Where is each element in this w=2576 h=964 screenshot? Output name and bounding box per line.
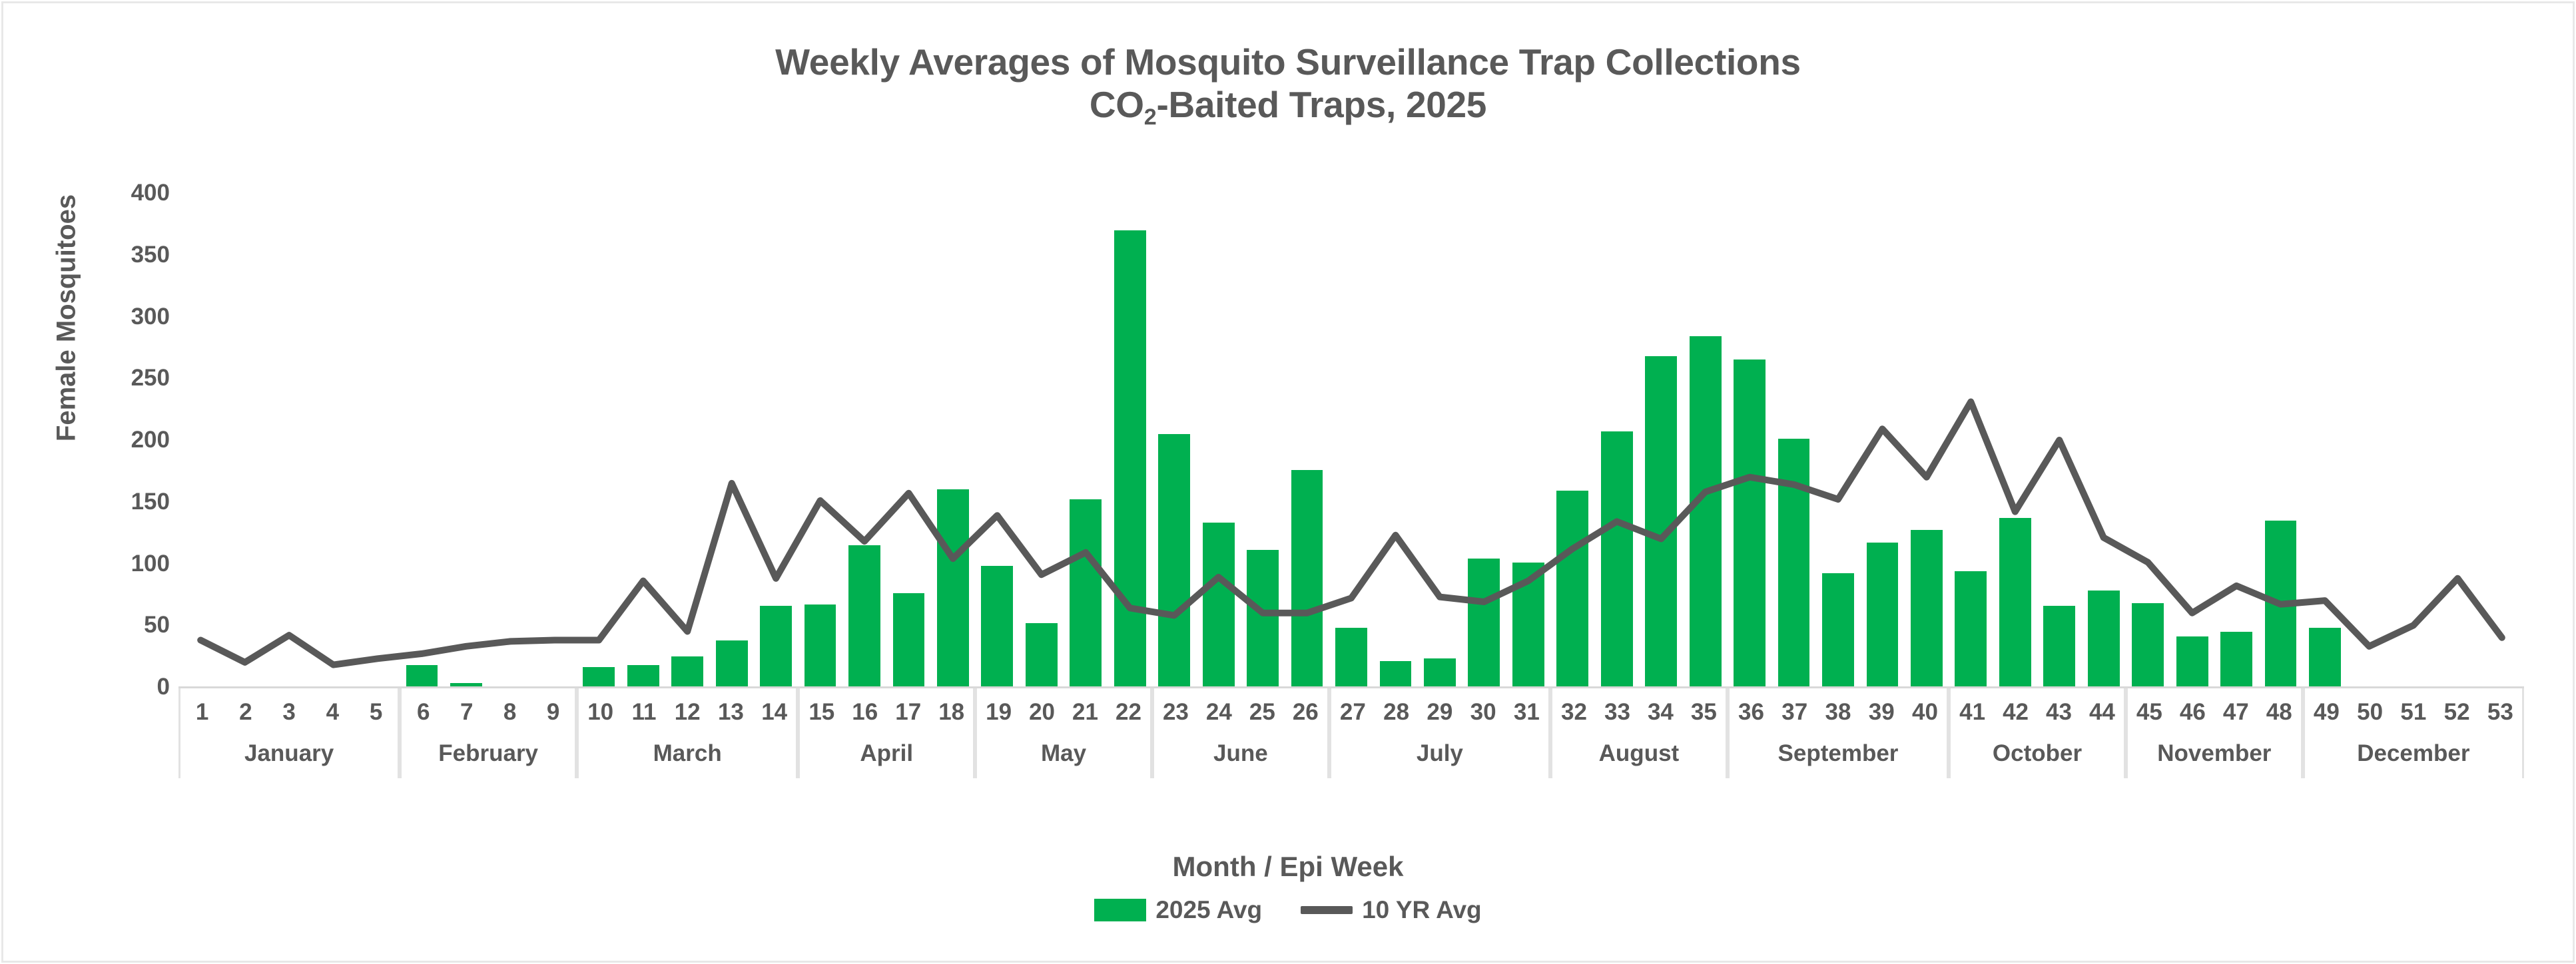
x-axis-week-label: 2 [224, 699, 267, 726]
x-axis-week-label: 40 [1903, 699, 1947, 726]
month-band: 4950515253December [2303, 688, 2524, 778]
x-axis-week-label: 15 [800, 699, 843, 726]
week-label-row: 2728293031 [1331, 688, 1548, 736]
x-axis-week-label: 42 [1994, 699, 2037, 726]
x-axis-month-label: March [579, 736, 796, 767]
legend-bar-swatch-icon [1094, 899, 1146, 921]
month-band: 12345January [178, 688, 400, 778]
x-axis-week-label: 45 [2128, 699, 2171, 726]
x-axis-week-label: 23 [1154, 699, 1197, 726]
x-axis-week-label: 19 [977, 699, 1020, 726]
x-axis-week-label: 25 [1241, 699, 1284, 726]
x-axis-week-label: 22 [1107, 699, 1150, 726]
month-band: 15161718April [798, 688, 975, 778]
x-axis-week-label: 24 [1197, 699, 1241, 726]
x-axis-week-label: 4 [311, 699, 354, 726]
x-axis-week-label: 18 [930, 699, 973, 726]
x-axis-week-label: 51 [2392, 699, 2435, 726]
plot-area [178, 193, 2524, 687]
x-axis-week-label: 32 [1552, 699, 1596, 726]
chart-subtitle-subscript: 2 [1144, 105, 1157, 130]
x-axis-week-label: 53 [2479, 699, 2522, 726]
chart-legend: 2025 Avg10 YR Avg [0, 896, 2576, 924]
chart-subtitle: CO2-Baited Traps, 2025 [0, 84, 2576, 130]
y-axis-tick-label: 400 [80, 180, 170, 206]
week-label-row: 1011121314 [579, 688, 796, 736]
month-band: 45464748November [2126, 688, 2303, 778]
chart-root: Weekly Averages of Mosquito Surveillance… [0, 0, 2576, 964]
x-axis-month-label: July [1331, 736, 1548, 767]
x-axis-week-label: 26 [1284, 699, 1327, 726]
x-axis-week-label: 20 [1020, 699, 1064, 726]
week-label-row: 6789 [402, 688, 575, 736]
x-axis-week-label: 43 [2037, 699, 2081, 726]
chart-subtitle-suffix: -Baited Traps, 2025 [1156, 84, 1486, 125]
page-title: Weekly Averages of Mosquito Surveillance… [0, 41, 2576, 84]
ten-year-avg-line [200, 402, 2502, 665]
x-axis-week-label: 11 [622, 699, 665, 726]
month-band: 23242526June [1152, 688, 1329, 778]
x-axis-week-label: 41 [1951, 699, 1994, 726]
week-label-row: 15161718 [800, 688, 973, 736]
x-axis-week-label: 50 [2348, 699, 2392, 726]
y-axis-tick-label: 200 [80, 427, 170, 453]
x-axis-week-label: 33 [1596, 699, 1639, 726]
x-axis-month-label: June [1154, 736, 1327, 767]
x-axis-week-label: 7 [445, 699, 488, 726]
y-axis-title: Female Mosquitoes [52, 152, 82, 485]
x-axis-week-label: 14 [753, 699, 796, 726]
x-axis-week-label: 13 [709, 699, 753, 726]
month-band: 41424344October [1949, 688, 2126, 778]
x-axis-month-label: February [402, 736, 575, 767]
x-axis-week-label: 28 [1375, 699, 1418, 726]
week-label-row: 3637383940 [1730, 688, 1947, 736]
month-band: 32333435August [1550, 688, 1728, 778]
x-axis-month-label: January [180, 736, 398, 767]
x-axis-week-label: 36 [1730, 699, 1773, 726]
week-label-row: 23242526 [1154, 688, 1327, 736]
y-axis-tick-label: 100 [80, 551, 170, 577]
x-axis-week-label: 16 [843, 699, 886, 726]
chart-title-block: Weekly Averages of Mosquito Surveillance… [0, 41, 2576, 130]
x-axis-week-label: 44 [2081, 699, 2124, 726]
legend-item[interactable]: 10 YR Avg [1301, 896, 1482, 924]
x-axis-month-label: December [2305, 736, 2522, 767]
x-axis-week-label: 46 [2171, 699, 2214, 726]
line-series-layer [178, 193, 2524, 687]
x-axis-week-label: 34 [1639, 699, 1682, 726]
x-axis-week-label: 12 [666, 699, 709, 726]
week-label-row: 4950515253 [2305, 688, 2522, 736]
x-axis-month-label: August [1552, 736, 1726, 767]
x-axis-week-label: 27 [1331, 699, 1375, 726]
x-axis-week-label: 30 [1462, 699, 1505, 726]
legend-item[interactable]: 2025 Avg [1094, 896, 1262, 924]
month-band: 3637383940September [1728, 688, 1949, 778]
x-axis-week-label: 48 [2258, 699, 2301, 726]
month-band: 19202122May [975, 688, 1152, 778]
y-axis-tick-label: 0 [80, 674, 170, 700]
x-axis-month-label: November [2128, 736, 2301, 767]
month-band: 2728293031July [1329, 688, 1550, 778]
x-axis-month-label: May [977, 736, 1150, 767]
legend-label: 2025 Avg [1155, 896, 1262, 924]
x-axis-week-label: 9 [531, 699, 575, 726]
x-axis-week-label: 5 [354, 699, 398, 726]
x-axis-week-label: 38 [1816, 699, 1859, 726]
y-axis-tick-label: 300 [80, 304, 170, 330]
y-axis-tick-label: 350 [80, 242, 170, 268]
week-label-row: 19202122 [977, 688, 1150, 736]
x-axis-week-label: 1 [180, 699, 224, 726]
x-axis-week-label: 49 [2305, 699, 2348, 726]
x-axis-week-label: 35 [1682, 699, 1726, 726]
week-label-row: 32333435 [1552, 688, 1726, 736]
y-axis-tick-label: 50 [80, 612, 170, 638]
week-label-row: 41424344 [1951, 688, 2124, 736]
x-axis-week-label: 52 [2435, 699, 2478, 726]
x-axis-title: Month / Epi Week [0, 851, 2576, 883]
x-axis-month-label: April [800, 736, 973, 767]
x-axis-week-label: 8 [488, 699, 531, 726]
chart-subtitle-prefix: CO [1090, 84, 1144, 125]
month-band: 6789February [400, 688, 577, 778]
month-band: 1011121314March [577, 688, 798, 778]
y-axis-tick-label: 250 [80, 365, 170, 391]
x-axis: 12345January6789February1011121314March1… [178, 688, 2524, 778]
x-axis-week-label: 17 [886, 699, 930, 726]
week-label-row: 12345 [180, 688, 398, 736]
x-axis-week-label: 6 [402, 699, 445, 726]
x-axis-week-label: 29 [1418, 699, 1461, 726]
week-label-row: 45464748 [2128, 688, 2301, 736]
x-axis-month-label: October [1951, 736, 2124, 767]
x-axis-month-label: September [1730, 736, 1947, 767]
x-axis-week-label: 47 [2214, 699, 2258, 726]
y-axis-tick-label: 150 [80, 489, 170, 515]
x-axis-week-label: 39 [1860, 699, 1903, 726]
y-axis-ticks: 400350300250200150100500 [80, 176, 170, 702]
x-axis-week-label: 31 [1505, 699, 1548, 726]
x-axis-week-label: 37 [1773, 699, 1816, 726]
legend-line-swatch-icon [1301, 906, 1353, 914]
legend-label: 10 YR Avg [1362, 896, 1482, 924]
x-axis-week-label: 3 [268, 699, 311, 726]
x-axis-week-label: 10 [579, 699, 622, 726]
x-axis-week-label: 21 [1064, 699, 1107, 726]
